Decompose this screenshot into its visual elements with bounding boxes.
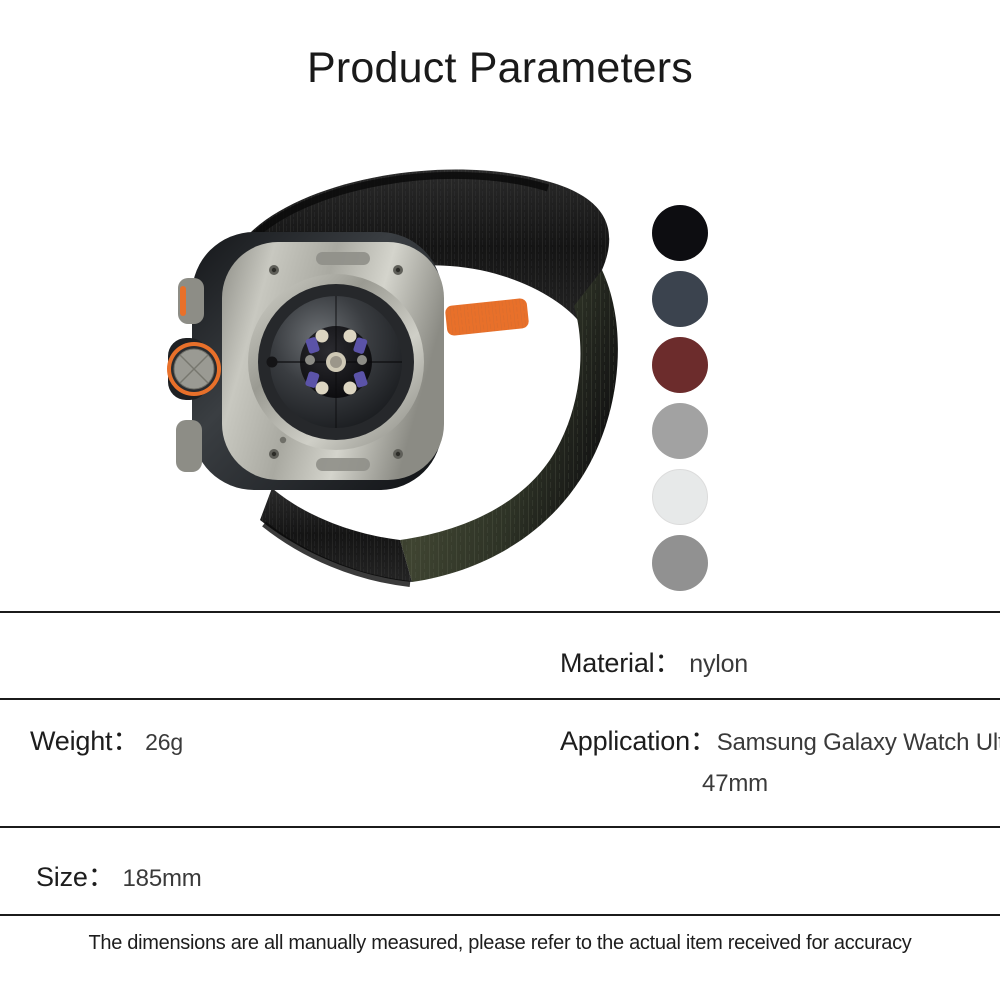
- param-size-value: 185mm: [123, 865, 202, 893]
- color-swatch-white[interactable]: [652, 469, 708, 525]
- watch-band-lower: [260, 488, 412, 584]
- divider-4: [0, 914, 1000, 916]
- watch-product-image: [150, 120, 620, 590]
- color-swatch-burgundy[interactable]: [652, 337, 708, 393]
- color-swatch-dark-grey[interactable]: [652, 535, 708, 591]
- page-title: Product Parameters: [0, 44, 1000, 93]
- param-weight: Weight： 26g: [30, 719, 183, 758]
- divider-3: [0, 826, 1000, 828]
- param-material: Material： nylon: [560, 641, 748, 680]
- param-application-value-line1: Samsung Galaxy Watch Ultra: [717, 729, 1000, 756]
- color-swatch-grey[interactable]: [652, 403, 708, 459]
- color-swatch-black[interactable]: [652, 205, 708, 261]
- product-parameters-page: Product Parameters: [0, 0, 1000, 1000]
- param-material-label: Material：: [560, 641, 681, 680]
- color-swatch-slate-blue[interactable]: [652, 271, 708, 327]
- color-swatch-list: [652, 205, 708, 591]
- param-size: Size： 185mm: [36, 855, 202, 894]
- param-material-value: nylon: [689, 650, 748, 679]
- divider-1: [0, 611, 1000, 613]
- param-size-label: Size：: [36, 855, 115, 894]
- band-orange-accent: [445, 298, 530, 336]
- watch-crown: [167, 342, 221, 396]
- param-weight-label: Weight：: [30, 719, 139, 758]
- param-application-value-line2: 47mm: [702, 770, 768, 797]
- param-application: Application：Samsung Galaxy Watch Ultra 4…: [560, 719, 980, 798]
- divider-2: [0, 698, 1000, 700]
- param-weight-value: 26g: [145, 729, 183, 756]
- footer-disclaimer: The dimensions are all manually measured…: [0, 932, 1000, 955]
- watch-case: [192, 232, 444, 490]
- param-application-label: Application：: [560, 726, 717, 756]
- product-hero: [0, 110, 1000, 600]
